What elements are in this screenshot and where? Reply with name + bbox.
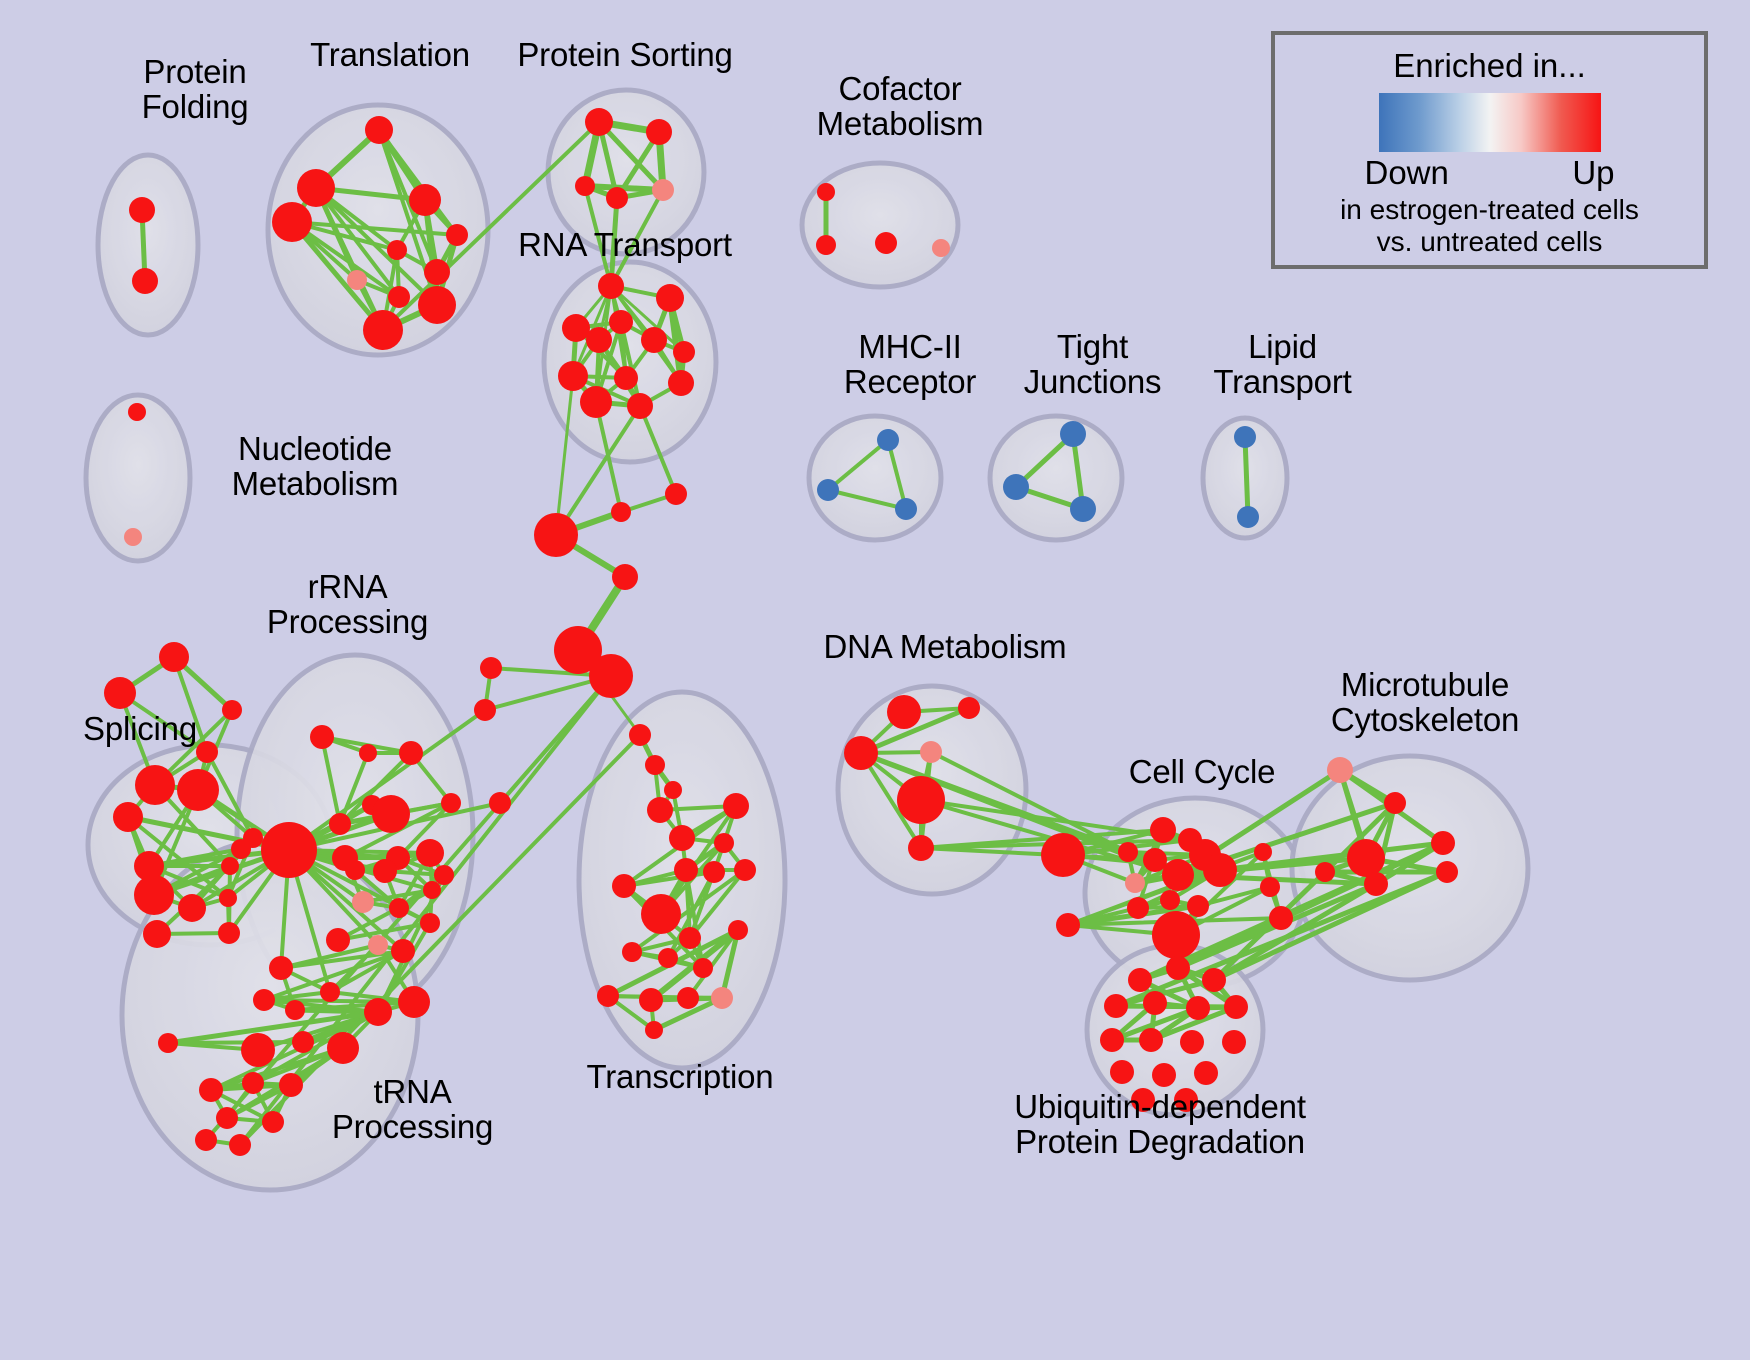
network-node[interactable] [641, 894, 681, 934]
network-node[interactable] [1187, 895, 1209, 917]
network-node[interactable] [658, 948, 678, 968]
network-node[interactable] [368, 935, 388, 955]
network-node[interactable] [668, 370, 694, 396]
network-node[interactable] [575, 176, 595, 196]
network-node[interactable] [261, 822, 317, 878]
network-node[interactable] [389, 898, 409, 918]
network-node[interactable] [1143, 991, 1167, 1015]
network-node[interactable] [534, 513, 578, 557]
network-node[interactable] [586, 327, 612, 353]
network-node[interactable] [1347, 839, 1385, 877]
network-node[interactable] [1180, 1030, 1204, 1054]
network-node[interactable] [387, 240, 407, 260]
network-node[interactable] [372, 795, 410, 833]
network-node[interactable] [664, 781, 682, 799]
network-node[interactable] [177, 769, 219, 811]
legend-box: Enriched in... Down Up in estrogen-treat… [1271, 31, 1708, 269]
legend-subtitle-line1: in estrogen-treated cells [1275, 194, 1704, 226]
network-node[interactable] [1194, 1061, 1218, 1085]
network-node[interactable] [269, 956, 293, 980]
network-node[interactable] [218, 922, 240, 944]
network-node[interactable] [895, 498, 917, 520]
network-node[interactable] [908, 835, 934, 861]
network-node[interactable] [1139, 1028, 1163, 1052]
network-node[interactable] [714, 833, 734, 853]
network-node[interactable] [326, 928, 350, 952]
network-node[interactable] [1060, 421, 1086, 447]
network-node[interactable] [365, 116, 393, 144]
network-node[interactable] [124, 528, 142, 546]
legend-up-label: Up [1572, 154, 1614, 192]
network-node[interactable] [320, 982, 340, 1002]
network-node[interactable] [363, 310, 403, 350]
network-node[interactable] [159, 642, 189, 672]
cluster-label-microtubule-cytoskeleton: Microtubule Cytoskeleton [1300, 668, 1550, 738]
network-node[interactable] [222, 700, 242, 720]
network-node[interactable] [241, 1033, 275, 1067]
cluster-label-splicing: Splicing [55, 712, 225, 747]
network-node[interactable] [1431, 831, 1455, 855]
network-node[interactable] [1202, 968, 1226, 992]
network-node[interactable] [816, 235, 836, 255]
network-node[interactable] [734, 859, 756, 881]
network-node[interactable] [1152, 1063, 1176, 1087]
network-node[interactable] [1162, 859, 1194, 891]
legend-title: Enriched in... [1275, 47, 1704, 85]
network-edge [1245, 437, 1248, 517]
network-node[interactable] [329, 813, 351, 835]
cluster-hull-protein-folding [98, 155, 198, 335]
network-node[interactable] [364, 998, 392, 1026]
network-node[interactable] [391, 939, 415, 963]
network-node[interactable] [1203, 853, 1237, 887]
network-node[interactable] [589, 654, 633, 698]
network-node[interactable] [441, 793, 461, 813]
network-node[interactable] [1237, 506, 1259, 528]
cluster-hull-mhc-ii-receptor [809, 416, 941, 540]
network-node[interactable] [693, 958, 713, 978]
network-node[interactable] [1160, 890, 1180, 910]
network-node[interactable] [1125, 873, 1145, 893]
network-node[interactable] [646, 119, 672, 145]
network-node[interactable] [1128, 968, 1152, 992]
network-node[interactable] [221, 857, 239, 875]
network-node[interactable] [420, 913, 440, 933]
cluster-label-dna-metabolism: DNA Metabolism [815, 630, 1075, 665]
network-node[interactable] [614, 366, 638, 390]
network-node[interactable] [1166, 956, 1190, 980]
network-node[interactable] [143, 920, 171, 948]
legend-down-label: Down [1365, 154, 1449, 192]
network-node[interactable] [409, 184, 441, 216]
network-node[interactable] [199, 1078, 223, 1102]
network-node[interactable] [1254, 843, 1272, 861]
network-node[interactable] [1224, 995, 1248, 1019]
cluster-label-cell-cycle: Cell Cycle [1102, 755, 1302, 790]
network-node[interactable] [585, 108, 613, 136]
network-node[interactable] [489, 792, 511, 814]
network-node[interactable] [1070, 496, 1096, 522]
network-node[interactable] [327, 1032, 359, 1064]
network-node[interactable] [627, 393, 653, 419]
network-node[interactable] [1110, 1060, 1134, 1084]
network-node[interactable] [1234, 426, 1256, 448]
network-node[interactable] [424, 259, 450, 285]
network-node[interactable] [932, 239, 950, 257]
network-node[interactable] [345, 860, 365, 880]
network-node[interactable] [1003, 474, 1029, 500]
network-node[interactable] [134, 875, 174, 915]
network-node[interactable] [135, 765, 175, 805]
network-node[interactable] [1384, 792, 1406, 814]
network-node[interactable] [817, 479, 839, 501]
network-node[interactable] [958, 697, 980, 719]
cluster-label-lipid-transport: Lipid Transport [1175, 330, 1390, 400]
network-node[interactable] [373, 859, 397, 883]
network-node[interactable] [398, 986, 430, 1018]
network-node[interactable] [645, 755, 665, 775]
network-node[interactable] [1260, 877, 1280, 897]
network-node[interactable] [728, 920, 748, 940]
cluster-label-cofactor-metabolism: Cofactor Metabolism [790, 72, 1010, 142]
network-node[interactable] [875, 232, 897, 254]
network-node[interactable] [219, 889, 237, 907]
network-node[interactable] [231, 839, 251, 859]
network-node[interactable] [297, 169, 335, 207]
network-node[interactable] [723, 793, 749, 819]
network-node[interactable] [347, 270, 367, 290]
cluster-label-transcription: Transcription [565, 1060, 795, 1095]
network-edge [1116, 1006, 1236, 1007]
network-node[interactable] [612, 564, 638, 590]
network-node[interactable] [104, 677, 136, 709]
network-node[interactable] [1127, 897, 1149, 919]
cluster-label-rna-transport: RNA Transport [500, 228, 750, 263]
network-node[interactable] [1152, 911, 1200, 959]
network-node[interactable] [641, 327, 667, 353]
network-node[interactable] [1150, 817, 1176, 843]
network-node[interactable] [817, 183, 835, 201]
network-node[interactable] [897, 776, 945, 824]
network-node[interactable] [446, 224, 468, 246]
network-node[interactable] [418, 286, 456, 324]
legend-subtitle: in estrogen-treated cells vs. untreated … [1275, 194, 1704, 258]
network-node[interactable] [679, 927, 701, 949]
network-node[interactable] [656, 284, 684, 312]
network-node[interactable] [674, 858, 698, 882]
network-node[interactable] [279, 1073, 303, 1097]
network-figure: Protein FoldingTranslationProtein Sortin… [0, 0, 1750, 1360]
cluster-label-tight-junctions: Tight Junctions [985, 330, 1200, 400]
cluster-label-trna-processing: tRNA Processing [305, 1075, 520, 1145]
network-node[interactable] [310, 725, 334, 749]
network-node[interactable] [877, 429, 899, 451]
network-node[interactable] [113, 802, 143, 832]
network-edge [585, 186, 663, 190]
network-node[interactable] [292, 1031, 314, 1053]
network-node[interactable] [920, 741, 942, 763]
cluster-label-protein-sorting: Protein Sorting [495, 38, 755, 73]
legend-subtitle-line2: vs. untreated cells [1275, 226, 1704, 258]
network-node[interactable] [611, 502, 631, 522]
network-node[interactable] [388, 286, 410, 308]
legend-endpoint-labels: Down Up [1365, 154, 1615, 192]
legend-color-gradient-bar [1379, 93, 1601, 152]
network-node[interactable] [285, 1000, 305, 1020]
network-node[interactable] [158, 1033, 178, 1053]
network-node[interactable] [434, 865, 454, 885]
network-node[interactable] [352, 891, 374, 913]
network-node[interactable] [1100, 1028, 1124, 1052]
network-node[interactable] [399, 741, 423, 765]
network-node[interactable] [1041, 833, 1085, 877]
network-node[interactable] [1364, 872, 1388, 896]
network-node[interactable] [216, 1107, 238, 1129]
network-node[interactable] [629, 724, 651, 746]
network-node[interactable] [359, 744, 377, 762]
network-node[interactable] [887, 695, 921, 729]
network-node[interactable] [703, 861, 725, 883]
network-node[interactable] [229, 1134, 251, 1156]
network-node[interactable] [253, 989, 275, 1011]
network-node[interactable] [580, 386, 612, 418]
network-node[interactable] [128, 403, 146, 421]
network-node[interactable] [1436, 861, 1458, 883]
network-node[interactable] [612, 874, 636, 898]
network-node[interactable] [423, 881, 441, 899]
network-node[interactable] [1118, 842, 1138, 862]
network-node[interactable] [669, 825, 695, 851]
cluster-label-rrna-processing: rRNA Processing [240, 570, 455, 640]
network-node[interactable] [673, 341, 695, 363]
network-node[interactable] [1327, 757, 1353, 783]
network-node[interactable] [1315, 862, 1335, 882]
network-node[interactable] [711, 987, 733, 1009]
network-node[interactable] [1143, 848, 1167, 872]
network-node[interactable] [609, 310, 633, 334]
network-node[interactable] [597, 985, 619, 1007]
network-node[interactable] [1186, 996, 1210, 1020]
network-node[interactable] [195, 1129, 217, 1151]
cluster-label-ubiquitin-protein-degradation: Ubiquitin-dependent Protein Degradation [985, 1090, 1335, 1160]
network-node[interactable] [272, 202, 312, 242]
network-node[interactable] [480, 657, 502, 679]
network-node[interactable] [562, 314, 590, 342]
network-node[interactable] [652, 179, 674, 201]
network-node[interactable] [677, 987, 699, 1009]
network-node[interactable] [1104, 994, 1128, 1018]
network-node[interactable] [645, 1021, 663, 1039]
network-node[interactable] [242, 1072, 264, 1094]
network-node[interactable] [647, 797, 673, 823]
network-node[interactable] [844, 736, 878, 770]
network-node[interactable] [558, 361, 588, 391]
network-node[interactable] [132, 268, 158, 294]
network-node[interactable] [416, 839, 444, 867]
network-node[interactable] [665, 483, 687, 505]
cluster-label-translation: Translation [270, 38, 510, 73]
network-node[interactable] [1056, 913, 1080, 937]
network-node[interactable] [639, 988, 663, 1012]
network-node[interactable] [622, 942, 642, 962]
network-node[interactable] [178, 894, 206, 922]
network-node[interactable] [262, 1111, 284, 1133]
network-node[interactable] [474, 699, 496, 721]
network-node[interactable] [606, 187, 628, 209]
network-edge [168, 1042, 303, 1043]
network-node[interactable] [1222, 1030, 1246, 1054]
network-node[interactable] [129, 197, 155, 223]
cluster-label-nucleotide-metabolism: Nucleotide Metabolism [195, 432, 435, 502]
network-node[interactable] [1269, 906, 1293, 930]
network-node[interactable] [598, 273, 624, 299]
